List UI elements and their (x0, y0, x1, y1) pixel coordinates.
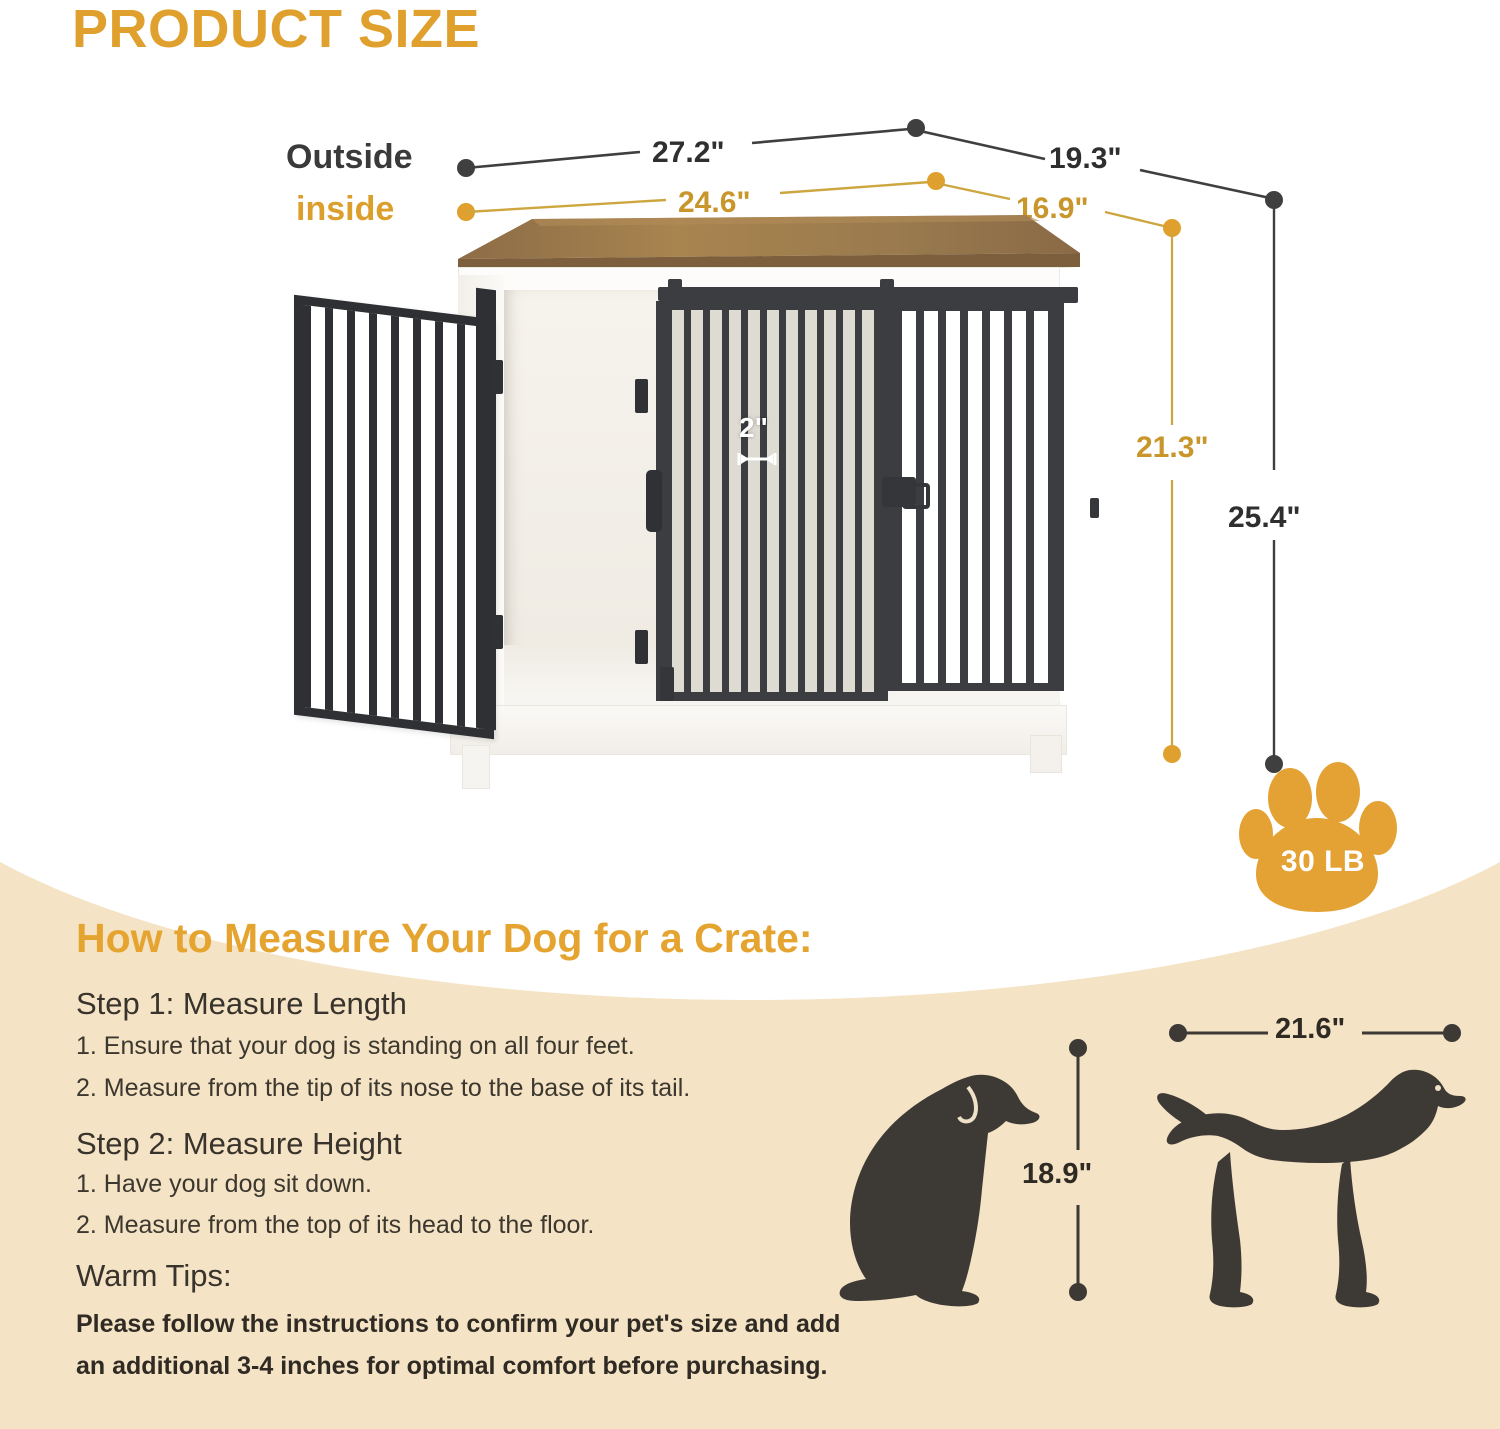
sliding-door-handle[interactable] (646, 470, 662, 532)
dimension-outside-height: 25.4" (1228, 501, 1301, 535)
measure-guide-heading: How to Measure Your Dog for a Crate: (76, 915, 813, 962)
dimension-inside-height: 21.3" (1136, 431, 1209, 465)
step2-title: Step 2: Measure Height (76, 1126, 402, 1162)
door-latch-hook-icon (902, 483, 930, 509)
sliding-barn-door[interactable] (656, 301, 888, 701)
sliding-door-rail (658, 287, 1078, 301)
paw-icon (1238, 762, 1406, 912)
crate-base-plinth (450, 705, 1067, 755)
side-panel-knob (1090, 498, 1099, 518)
door-hinge-top-icon (490, 360, 503, 394)
wood-tabletop (440, 215, 1080, 275)
dog-height-label: 18.9" (1022, 1158, 1092, 1191)
cabinet-hinge-top-icon (635, 379, 648, 413)
bar-spacing-label: 2" (739, 412, 768, 444)
warm-tips-line-1: Please follow the instructions to confir… (76, 1310, 840, 1339)
crate-foot-right (1030, 735, 1062, 773)
sliding-door-bars (665, 310, 879, 692)
crate-foot-left (462, 745, 490, 789)
dog-crate-furniture-illustration: 2" (290, 215, 1120, 795)
step1-line-1: 1. Ensure that your dog is standing on a… (76, 1032, 635, 1061)
step1-title: Step 1: Measure Length (76, 986, 407, 1022)
dog-length-label: 21.6" (1275, 1013, 1345, 1046)
bar-spacing-arrow-icon (736, 451, 778, 467)
step2-line-2: 2. Measure from the top of its head to t… (76, 1211, 594, 1240)
cabinet-hinge-bottom-icon (635, 630, 648, 664)
step1-line-2: 2. Measure from the tip of its nose to t… (76, 1074, 690, 1103)
dimension-outside-depth: 19.3" (1049, 142, 1122, 176)
weight-capacity-label: 30 LB (1258, 845, 1388, 879)
warm-tips-title: Warm Tips: (76, 1258, 232, 1294)
warm-tips-line-2: an additional 3-4 inches for optimal com… (76, 1352, 828, 1381)
open-door-stile (476, 288, 496, 730)
dimension-outside-width: 27.2" (652, 136, 725, 170)
open-side-door[interactable] (294, 295, 494, 740)
step2-line-1: 1. Have your dog sit down. (76, 1170, 372, 1199)
door-hinge-bottom-icon (490, 615, 503, 649)
door-bottom-bolt (660, 667, 674, 701)
infographic-canvas: PRODUCT SIZE Outside inside 27.2" 24.6" … (0, 0, 1500, 1429)
